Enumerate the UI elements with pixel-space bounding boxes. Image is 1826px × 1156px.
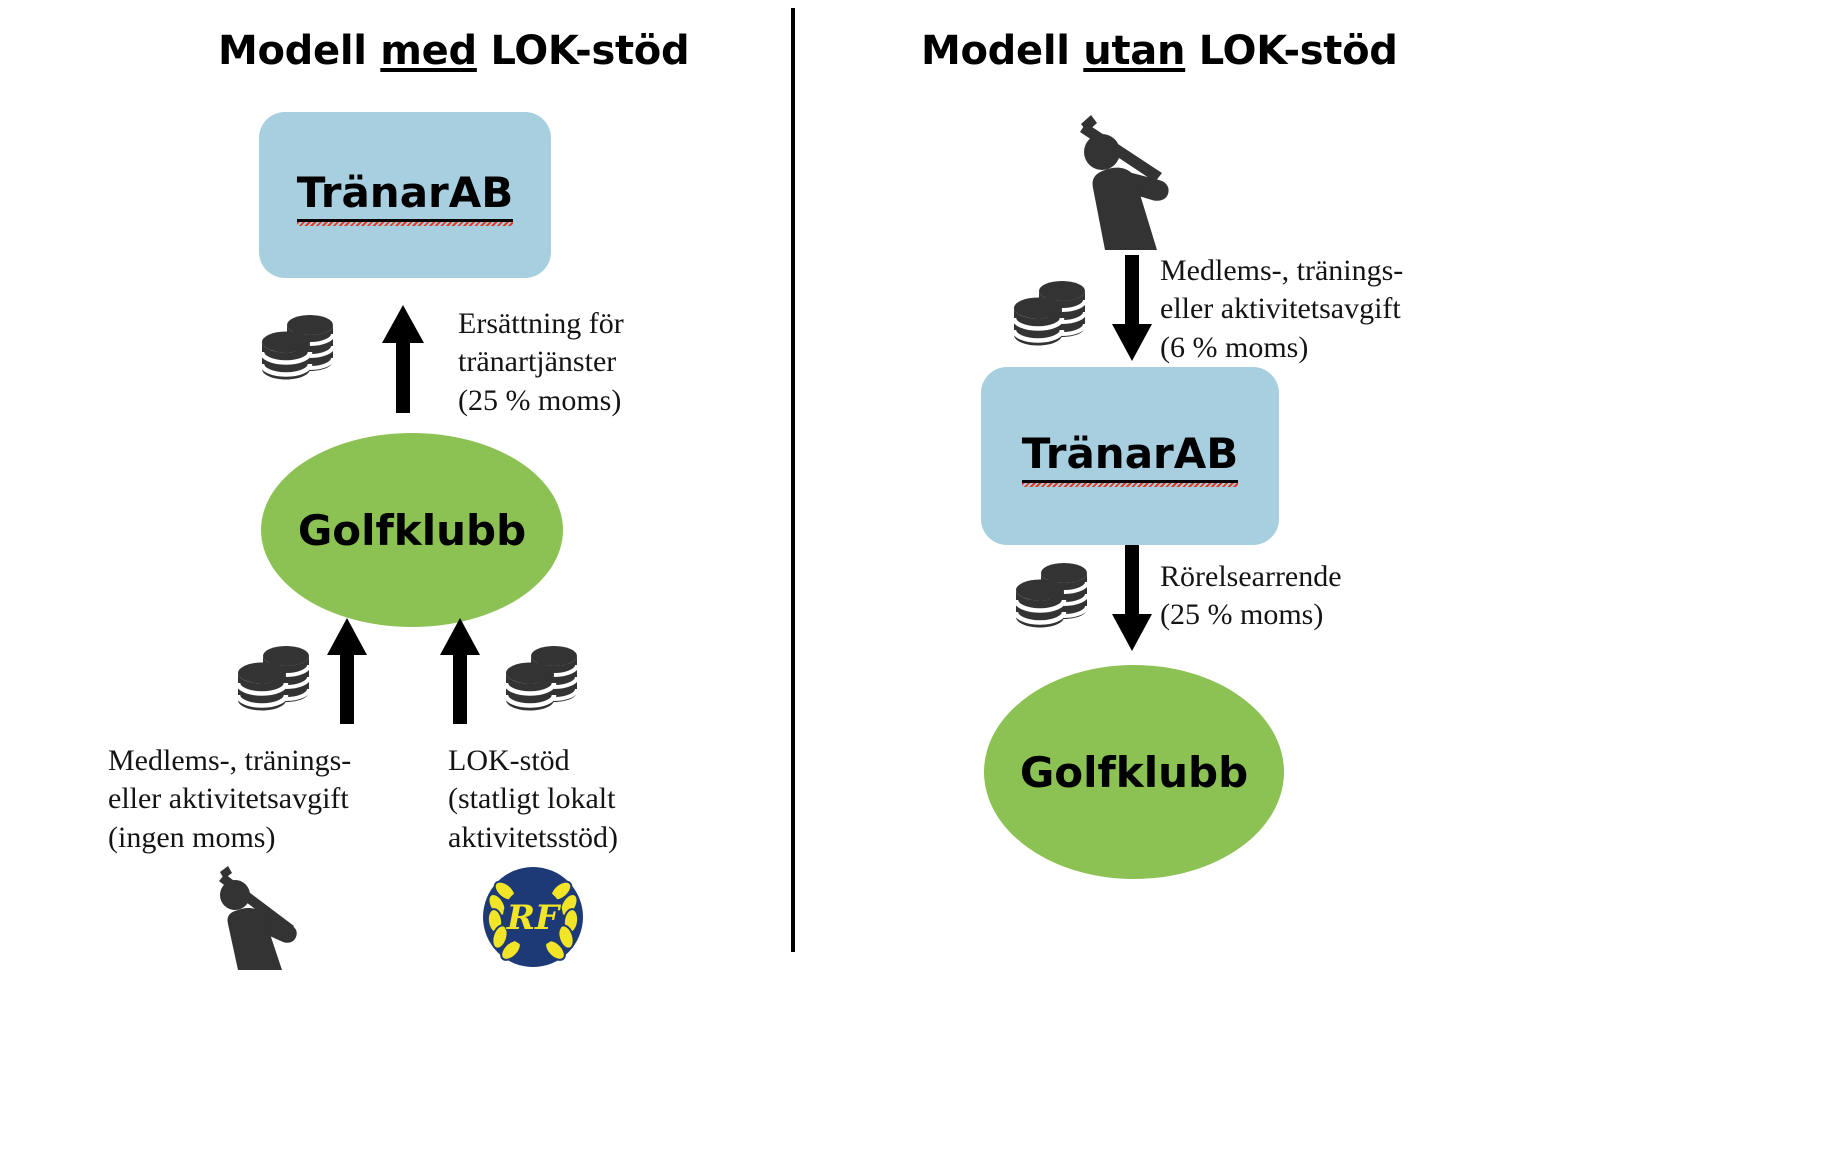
left-panel-title: Modell med LOK-stöd — [218, 28, 689, 74]
right-title-suffix: LOK-stöd — [1185, 28, 1397, 74]
left-golfklubb-ellipse[interactable]: Golfklubb — [261, 433, 563, 627]
rf-logo-letters: RF — [506, 898, 562, 938]
left-golfklubb-label: Golfklubb — [298, 506, 526, 555]
left-tranarab-label: TränarAB — [297, 168, 514, 222]
right-title-emphasis: utan — [1083, 28, 1185, 74]
golfer-icon — [186, 864, 308, 972]
right-golfklubb-label: Golfklubb — [1020, 748, 1248, 797]
coins-icon — [234, 643, 320, 715]
caption-rorelsearrende: Rörelsearrende (25 % moms) — [1160, 558, 1490, 635]
caption-lok-stod: LOK-stöd (statligt lokalt aktivitetsstöd… — [448, 742, 768, 857]
left-title-emphasis: med — [380, 28, 477, 74]
arrow-up-ersattning — [380, 305, 426, 413]
right-tranarab-box[interactable]: TränarAB — [981, 367, 1279, 545]
coins-icon — [1012, 560, 1098, 632]
panel-divider — [791, 8, 795, 952]
arrow-up-lok-stod — [438, 618, 482, 724]
coins-icon — [1010, 278, 1096, 350]
caption-medlemsavgift-left: Medlems-, tränings- eller aktivitetsavgi… — [108, 742, 438, 857]
right-title-prefix: Modell — [921, 28, 1083, 74]
golfer-icon — [1063, 110, 1189, 252]
caption-ersattning: Ersättning för tränartjänster (25 % moms… — [458, 305, 758, 420]
caption-medlemsavgift-right: Medlems-, tränings- eller aktivitetsavgi… — [1160, 252, 1490, 367]
right-panel-title: Modell utan LOK-stöd — [921, 28, 1398, 74]
left-tranarab-box[interactable]: TränarAB — [259, 112, 551, 278]
right-golfklubb-ellipse[interactable]: Golfklubb — [984, 665, 1284, 879]
arrow-down-rorelsearrende — [1110, 545, 1154, 651]
coins-icon — [502, 643, 588, 715]
arrow-up-medlemsavgift — [325, 618, 369, 724]
left-title-prefix: Modell — [218, 28, 380, 74]
coins-icon — [258, 312, 344, 384]
rf-logo-icon: RF — [481, 865, 585, 969]
right-tranarab-label: TränarAB — [1022, 429, 1239, 483]
left-title-suffix: LOK-stöd — [477, 28, 689, 74]
arrow-down-medlemsavgift — [1110, 255, 1154, 361]
diagram-canvas: Modell med LOK-stöd TränarAB Ersättning … — [0, 0, 1826, 1156]
